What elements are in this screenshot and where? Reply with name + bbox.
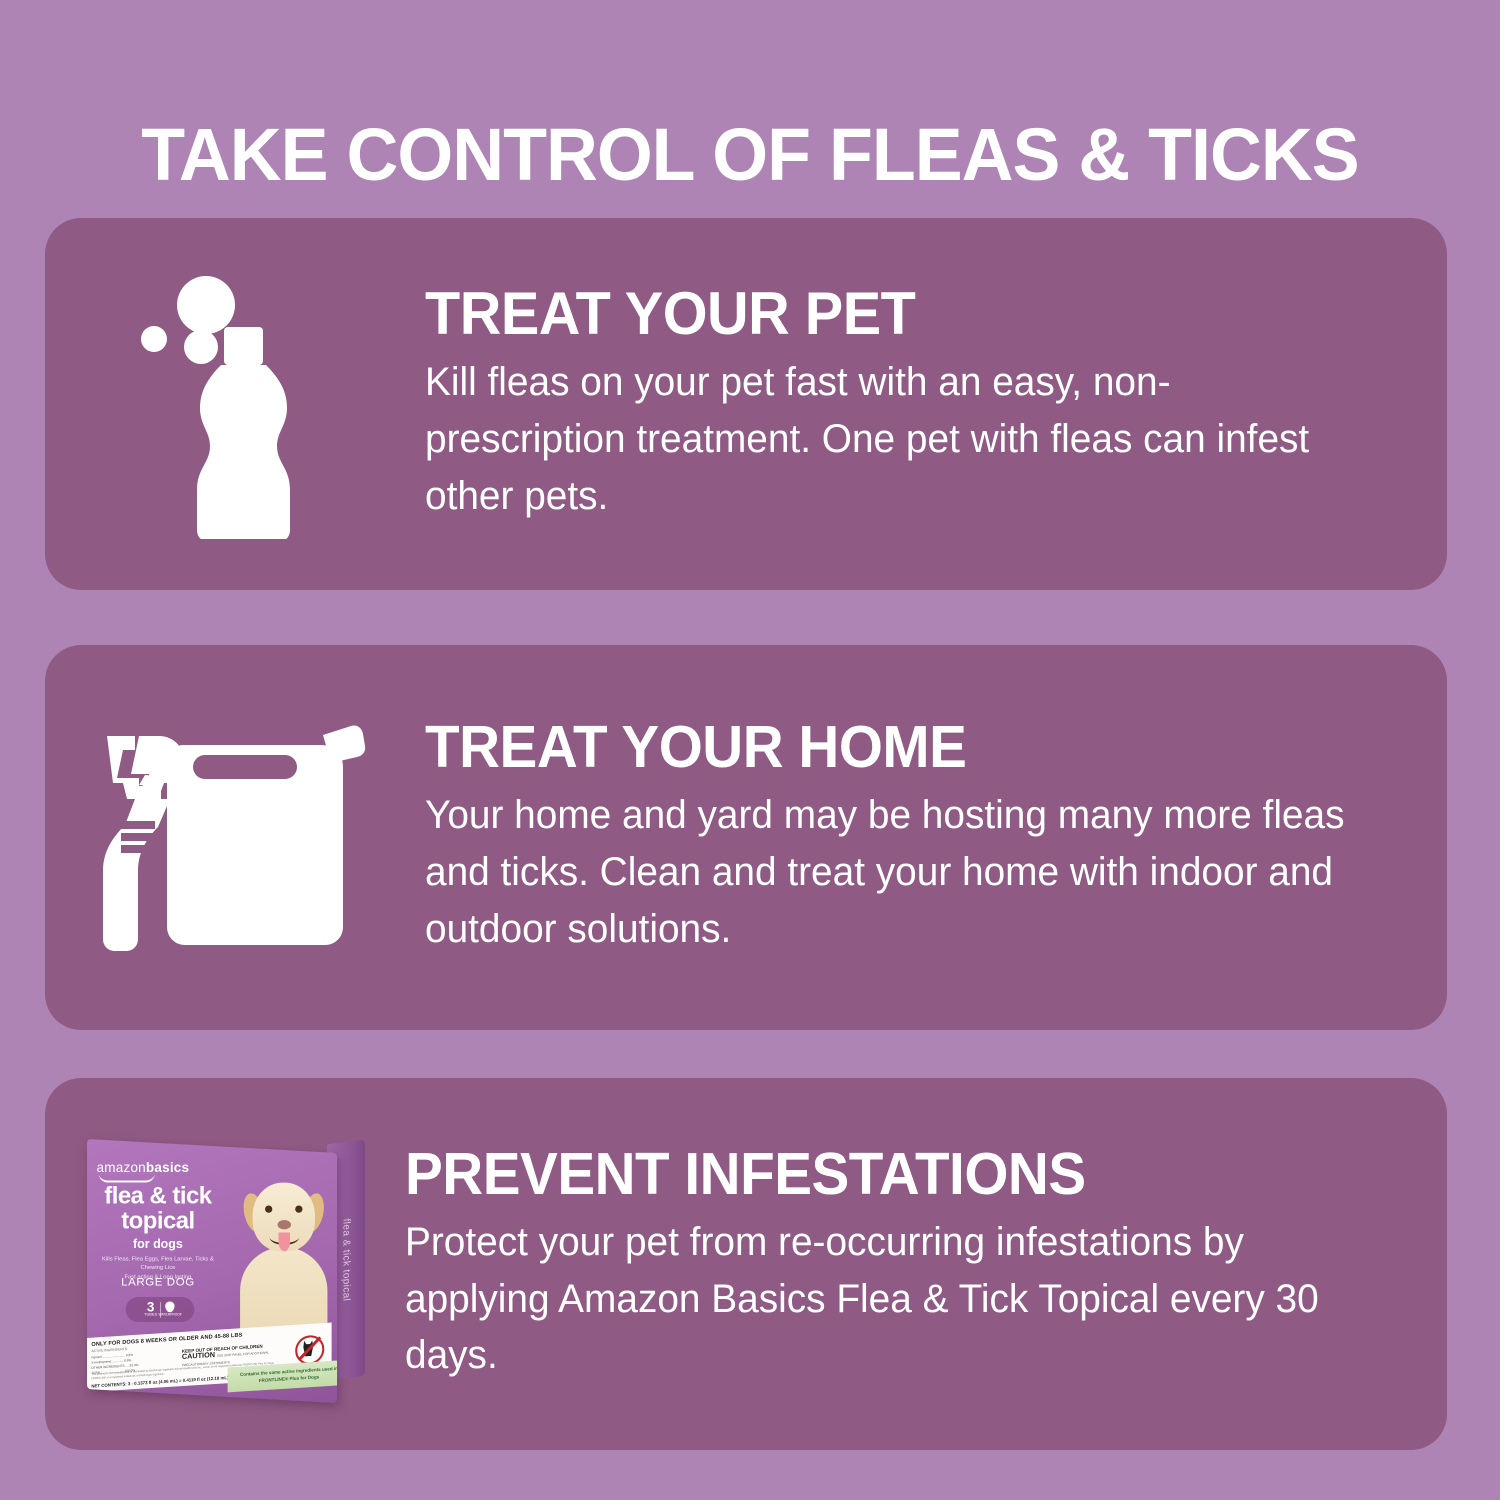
waterproof-droplet-icon: WATERPROOF bbox=[165, 1302, 176, 1317]
label-caution-text: CAUTION bbox=[182, 1352, 215, 1361]
card-heading: TREAT YOUR PET bbox=[425, 283, 1360, 344]
card-text: Protect your pet from re-occurring infes… bbox=[405, 1214, 1369, 1384]
badge-tube-count: 3 TUBES bbox=[144, 1302, 157, 1318]
product-box-badge: 3 TUBES WATERPROOF bbox=[126, 1297, 195, 1322]
badge-waterproof-label: WATERPROOF bbox=[159, 1313, 182, 1317]
dog-tongue bbox=[279, 1233, 290, 1252]
badge-count-label: TUBES bbox=[144, 1314, 157, 1318]
card-text: Your home and yard may be hosting many m… bbox=[425, 787, 1370, 957]
card-body: TREAT YOUR HOME Your home and yard may b… bbox=[425, 717, 1447, 958]
page-title: TAKE CONTROL OF FLEAS & TICKS bbox=[23, 118, 1478, 192]
shampoo-bottle-icon bbox=[123, 269, 347, 539]
card-body: PREVENT INFESTATIONS Protect your pet fr… bbox=[405, 1144, 1447, 1385]
claims-line-1: Kills Fleas, Flea Eggs, Flea Larvae, Tic… bbox=[90, 1255, 225, 1272]
product-box-front: amazonbasics flea & tick topical for dog… bbox=[87, 1139, 337, 1403]
dog-eye-right bbox=[295, 1205, 302, 1212]
label-active-ingredients-title: ACTIVE INGREDIENTS: bbox=[91, 1347, 127, 1353]
product-box-side-label: flea & tick topical bbox=[341, 1218, 352, 1302]
card-body: TREAT YOUR PET Kill fleas on your pet fa… bbox=[425, 283, 1447, 525]
droplet-shape-icon bbox=[166, 1301, 175, 1312]
prohibition-slash-icon bbox=[299, 1336, 321, 1360]
card-heading: PREVENT INFESTATIONS bbox=[405, 1144, 1359, 1204]
product-box-title: flea & tick topical bbox=[94, 1183, 221, 1234]
card-icon-zone bbox=[45, 218, 425, 590]
card-text: Kill fleas on your pet fast with an easy… bbox=[425, 354, 1370, 524]
card-heading: TREAT YOUR HOME bbox=[425, 717, 1360, 777]
card-icon-zone: flea & tick topical amazonbasics flea & … bbox=[45, 1078, 405, 1450]
product-box-image: flea & tick topical amazonbasics flea & … bbox=[75, 1124, 375, 1404]
info-card-treat-your-pet: TREAT YOUR PET Kill fleas on your pet fa… bbox=[45, 218, 1447, 590]
spray-bottle-and-jug-icon bbox=[85, 713, 385, 963]
frontline-banner-text: Contains the same active ingredients use… bbox=[232, 1366, 337, 1387]
info-card-prevent-infestations: flea & tick topical amazonbasics flea & … bbox=[45, 1078, 1447, 1450]
dog-eye-left bbox=[265, 1205, 272, 1212]
product-box-size: LARGE DOG bbox=[94, 1276, 221, 1288]
card-icon-zone bbox=[45, 645, 425, 1030]
info-card-treat-your-home: TREAT YOUR HOME Your home and yard may b… bbox=[45, 645, 1447, 1030]
product-box-subtitle: for dogs bbox=[94, 1237, 221, 1252]
